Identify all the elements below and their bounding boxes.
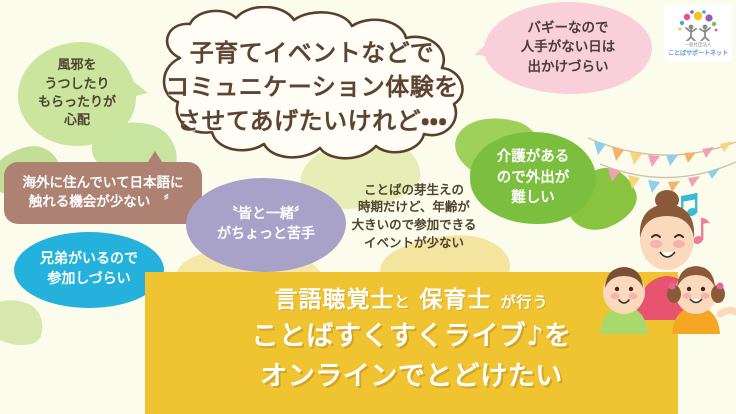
banner-profession-nursery: 保育士 <box>420 287 492 313</box>
bubble-tail <box>128 80 149 101</box>
main-speech-cloud: 子育てイベントなどで コミュニケーション体験を させてあげたいけれど・・・ <box>118 6 506 172</box>
cloud-text-block: 子育てイベントなどで コミュニケーション体験を させてあげたいけれど・・・ <box>118 36 506 138</box>
bubble-caregiving-text: 介護がある ので外出が 難しい <box>491 147 576 209</box>
organization-logo[interactable]: 一般社団法人 ことばサポートネット <box>664 4 732 62</box>
bubble-together-worry: 〝皆と一緒〞 がちょっと苦手 <box>186 178 346 272</box>
bubble-buggy-text: バギーなので 人手がない日は 出かけづらい <box>515 19 622 76</box>
bubble-overseas-text: 海外に住んでいて日本語に 触れる機会が少ない 〞 <box>17 174 190 212</box>
poster-canvas: 子育てイベントなどで コミュニケーション体験を させてあげたいけれど・・・ 風邪… <box>0 0 736 414</box>
cloud-line-1: 子育てイベントなどで <box>118 36 506 70</box>
cloud-line-3: させてあげたいけれど・・・ <box>118 104 506 138</box>
leaf-decoration <box>0 291 50 353</box>
bubble-siblings-worry: 兄弟がいるので 参加しづらい <box>14 232 164 308</box>
family-illustration <box>598 182 736 342</box>
bubble-caregiving-worry: 介護がある ので外出が 難しい <box>470 132 596 224</box>
baby-figure <box>600 267 648 334</box>
bubble-budding-text: ことばの芽生えの 時期だけど、年齢が 大きいので参加できる イベントが少ない <box>346 181 483 252</box>
bubble-together-text: 〝皆と一緒〞 がちょっと苦手 <box>211 205 321 245</box>
banner-verb: が行う <box>501 293 549 311</box>
cloud-line-2: コミュニケーション体験を <box>118 70 506 104</box>
bubble-budding-worry: ことばの芽生えの 時期だけど、年齢が 大きいので参加できる イベントが少ない <box>324 170 504 262</box>
bubble-cold-worry: 風邪を うつしたり もらったりが 心配 <box>18 42 136 146</box>
girl-figure <box>667 266 735 334</box>
bubble-siblings-text: 兄弟がいるので 参加しづらい <box>34 250 144 290</box>
logo-name: ことばサポートネット <box>668 48 728 57</box>
bubble-buggy-worry: バギーなので 人手がない日は 出かけづらい <box>484 2 652 94</box>
bubble-tail <box>146 151 164 165</box>
banner-profession-st: 言語聴覚士 <box>274 287 394 313</box>
people-dots-logo-icon <box>677 9 719 41</box>
banner-conjunction: と <box>394 293 410 311</box>
bubble-overseas-worry: 海外に住んでいて日本語に 触れる機会が少ない 〞 <box>4 162 202 224</box>
bubble-cold-text: 風邪を うつしたり もらったりが 心配 <box>32 57 122 131</box>
banner-line-3: オンラインでとどけたい <box>145 354 678 393</box>
